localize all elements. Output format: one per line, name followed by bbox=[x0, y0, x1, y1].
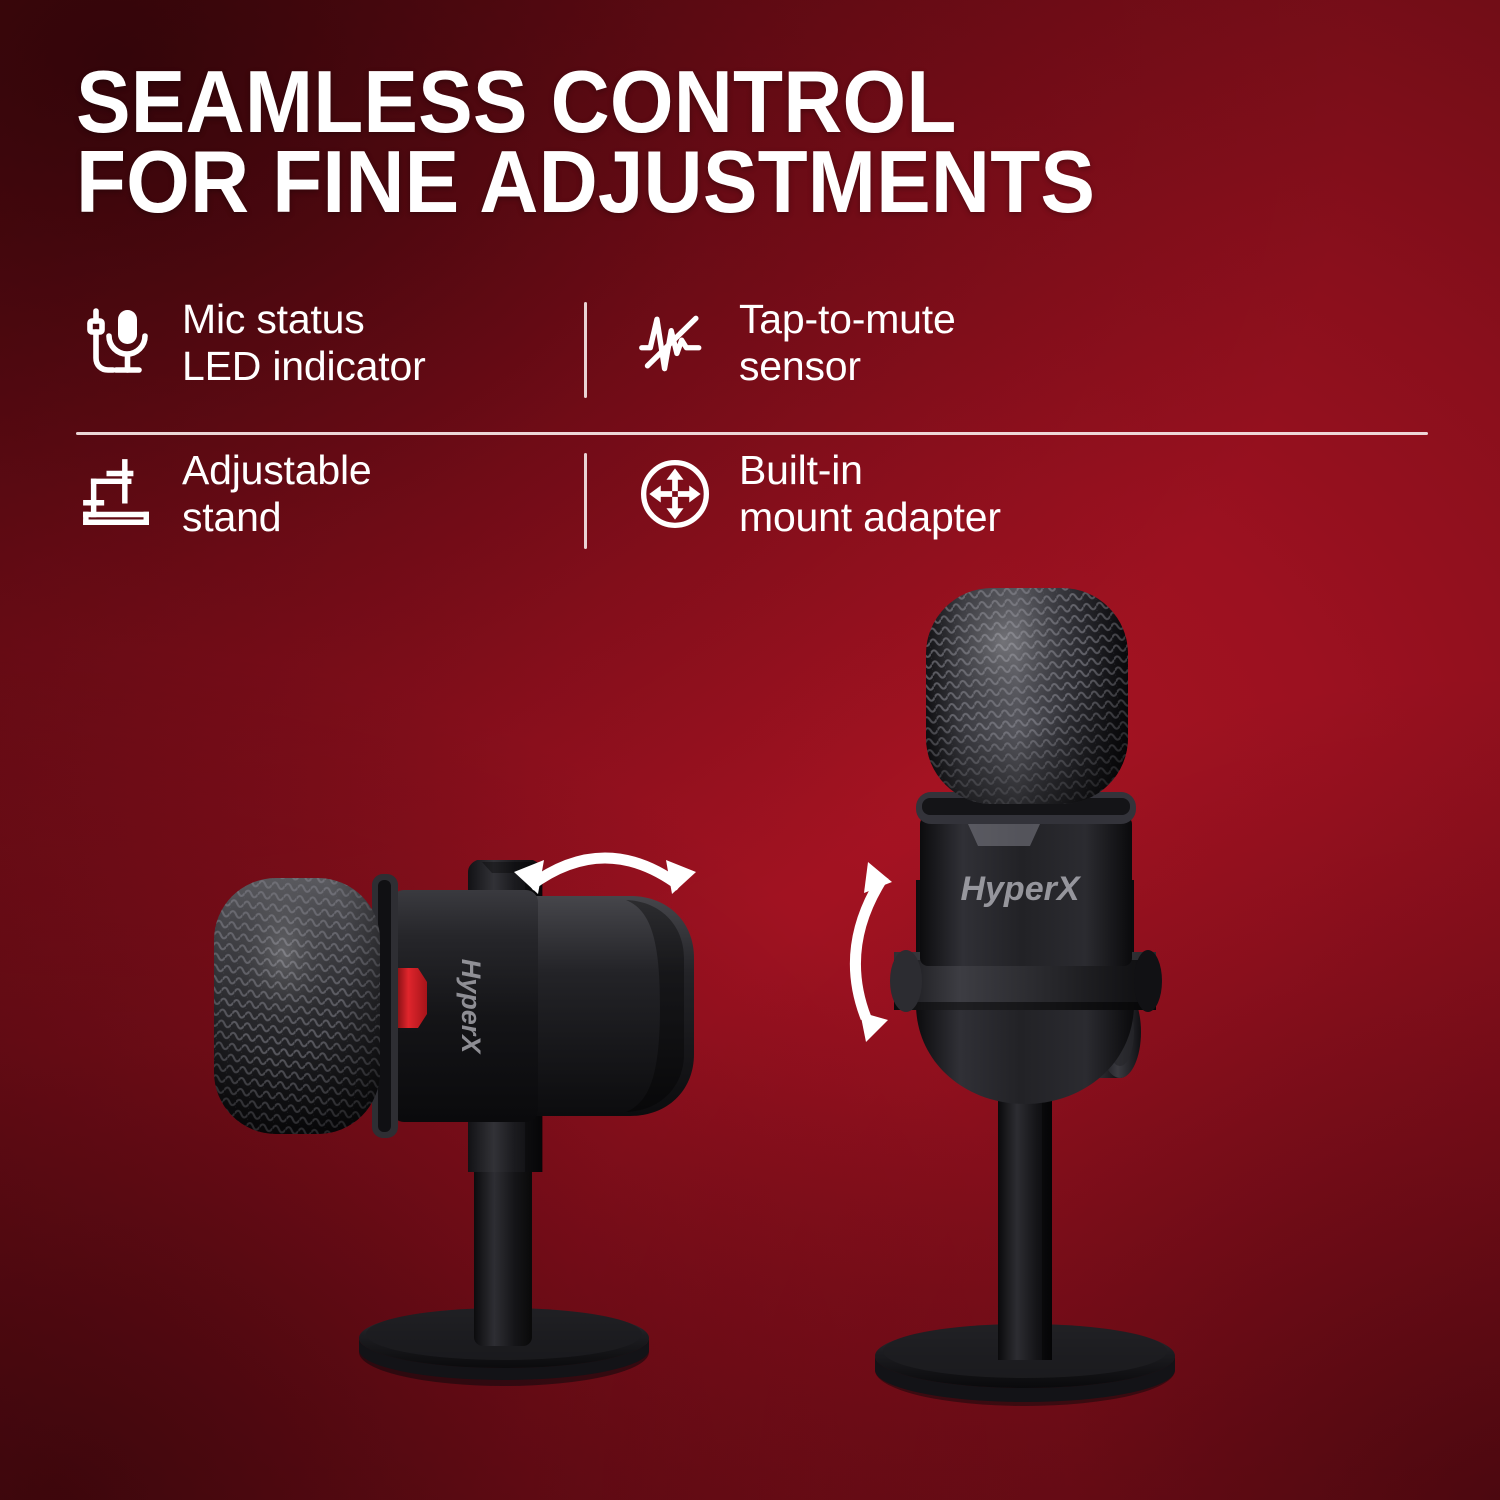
feature-label: Tap-to-mute sensor bbox=[739, 296, 956, 390]
svg-text:HyperX: HyperX bbox=[456, 959, 486, 1056]
hyperx-logo: HyperX bbox=[456, 959, 486, 1056]
rotate-arrow-horizontal bbox=[500, 828, 710, 908]
product-feature-banner: SEAMLESS CONTROL FOR FINE ADJUSTMENTS bbox=[0, 0, 1500, 1500]
feature-row-bottom: Adjustable stand Built-in mount bbox=[76, 447, 1428, 577]
headline-line-1: SEAMLESS CONTROL bbox=[76, 62, 1322, 142]
tilt-arrow-vertical bbox=[826, 846, 916, 1046]
feature-label: Adjustable stand bbox=[182, 447, 371, 541]
headline-line-2: FOR FINE ADJUSTMENTS bbox=[76, 142, 1322, 222]
page-title: SEAMLESS CONTROL FOR FINE ADJUSTMENTS bbox=[76, 62, 1416, 222]
vent-notch bbox=[968, 824, 1040, 846]
feature-adjustable-stand: Adjustable stand bbox=[76, 447, 584, 541]
feature-mount-adapter: Built-in mount adapter bbox=[587, 447, 1001, 541]
adjustable-stand-icon bbox=[80, 451, 156, 537]
waveform-mute-icon bbox=[637, 300, 713, 386]
microphone-led-icon bbox=[80, 300, 156, 386]
feature-divider-vertical-bottom bbox=[584, 453, 587, 549]
feature-divider-horizontal bbox=[76, 432, 1428, 435]
mesh-grille bbox=[926, 588, 1128, 804]
feature-divider-vertical-top bbox=[584, 302, 587, 398]
feature-tap-to-mute: Tap-to-mute sensor bbox=[587, 296, 956, 390]
feature-row-top: Mic status LED indicator Tap-to-mute sen… bbox=[76, 296, 1428, 426]
feature-label: Built-in mount adapter bbox=[739, 447, 1001, 541]
led-indicator bbox=[396, 968, 427, 1028]
feature-mic-status-led: Mic status LED indicator bbox=[76, 296, 584, 390]
four-way-arrows-circle-icon bbox=[637, 451, 713, 537]
feature-list: Mic status LED indicator Tap-to-mute sen… bbox=[76, 296, 1428, 577]
microphone-tilted-horizontal: HyperX bbox=[196, 860, 816, 1400]
hyperx-logo: HyperX bbox=[960, 870, 1081, 908]
mesh-grille bbox=[214, 878, 380, 1134]
feature-label: Mic status LED indicator bbox=[182, 296, 426, 390]
stand-pole bbox=[474, 1160, 532, 1346]
